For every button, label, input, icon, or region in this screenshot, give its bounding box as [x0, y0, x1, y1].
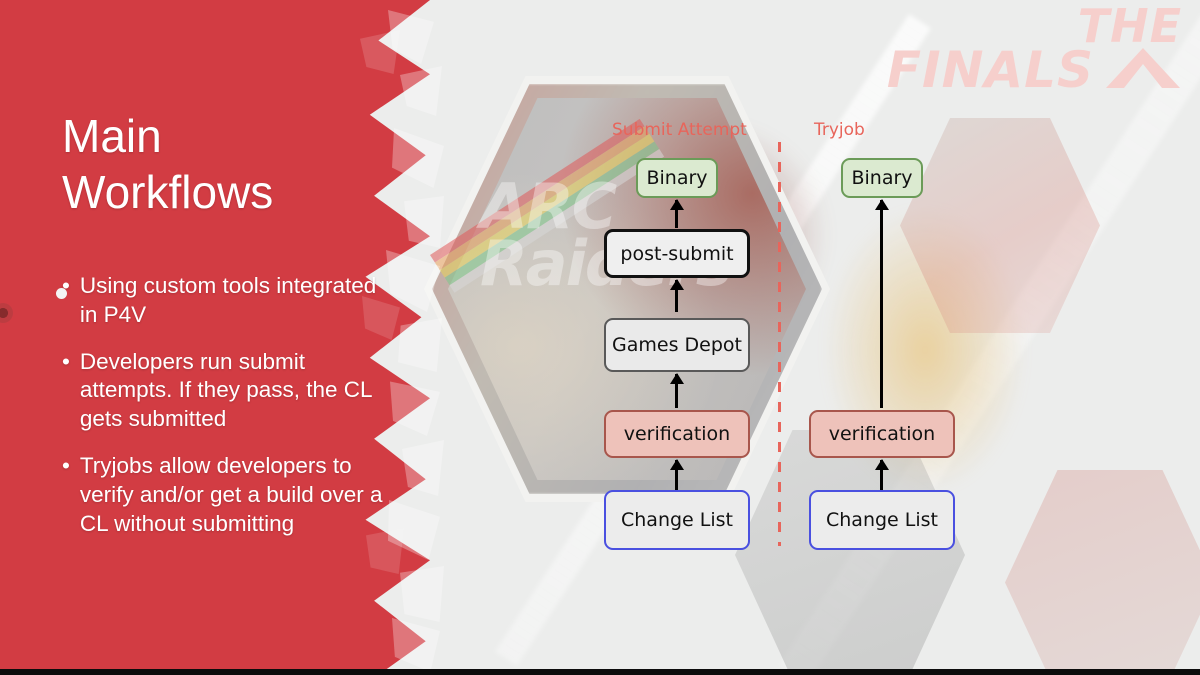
- list-item: • Using custom tools integrated in P4V: [62, 272, 384, 330]
- bullet-list: • Using custom tools integrated in P4V •…: [62, 272, 384, 556]
- column-label-submit-attempt: Submit Attempt: [612, 120, 747, 140]
- node-verification-submit[interactable]: verification: [604, 410, 750, 458]
- page-title-line1: Main: [62, 108, 392, 164]
- node-binary-tryjob[interactable]: Binary: [841, 158, 923, 198]
- page-title-line2: Workflows: [62, 164, 392, 220]
- bullet-marker-icon: •: [62, 348, 70, 434]
- arrow-verification-to-binary-tryjob: [880, 200, 883, 408]
- page-title: Main Workflows: [62, 108, 392, 220]
- chevron-mark-icon: [1104, 46, 1182, 91]
- bottom-letterbox-bar: [0, 669, 1200, 675]
- column-divider: [778, 142, 781, 546]
- slide-canvas: ARC Raiders THE FINALS Main: [0, 0, 1200, 675]
- the-finals-logo: THE FINALS: [887, 8, 1182, 91]
- arrow-post-submit-to-binary: [675, 200, 678, 228]
- node-games-depot[interactable]: Games Depot: [604, 318, 750, 372]
- arrow-change-list-to-verification-tryjob: [880, 460, 883, 490]
- bullet-marker-icon: •: [62, 452, 70, 538]
- list-item-label: Using custom tools integrated in P4V: [80, 272, 384, 330]
- column-label-tryjob: Tryjob: [814, 120, 865, 140]
- bullet-marker-icon: •: [62, 272, 70, 330]
- node-change-list-tryjob[interactable]: Change List: [809, 490, 955, 550]
- list-item-label: Tryjobs allow developers to verify and/o…: [80, 452, 384, 538]
- node-binary-submit[interactable]: Binary: [636, 158, 718, 198]
- hexagon-decoration: [1005, 470, 1200, 675]
- the-finals-logo-line2: FINALS: [887, 50, 1094, 91]
- list-item-label: Developers run submit attempts. If they …: [80, 348, 384, 434]
- arrow-verification-to-games-depot: [675, 374, 678, 408]
- node-post-submit[interactable]: post-submit: [604, 229, 750, 278]
- list-item: • Tryjobs allow developers to verify and…: [62, 452, 384, 538]
- node-change-list-submit[interactable]: Change List: [604, 490, 750, 550]
- node-verification-tryjob[interactable]: verification: [809, 410, 955, 458]
- slide-marker-dot: [56, 288, 67, 299]
- arrow-change-list-to-verification-submit: [675, 460, 678, 490]
- arrow-games-depot-to-post-submit: [675, 280, 678, 312]
- list-item: • Developers run submit attempts. If the…: [62, 348, 384, 434]
